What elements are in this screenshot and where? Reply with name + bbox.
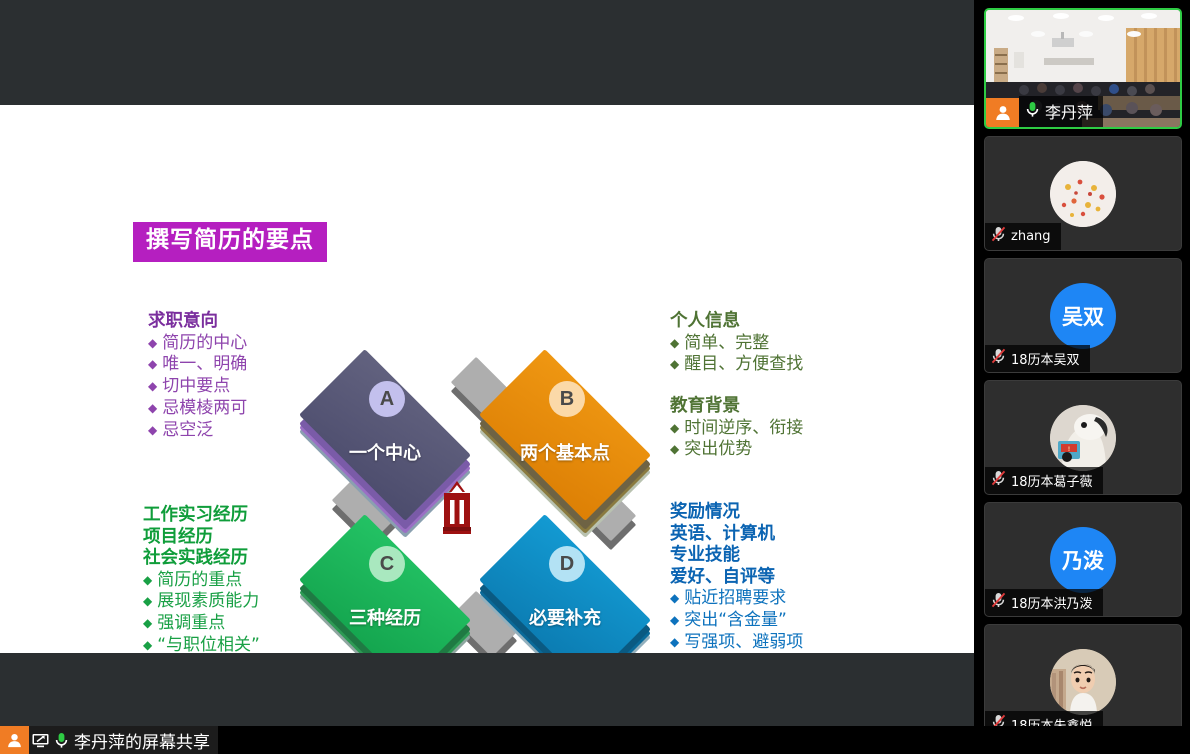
bullet-item: ◆ 时间逆序、衔接 [670,418,803,440]
diamond-bullet-icon: ◆ [143,594,152,609]
bullet-text: 时间逆序、衔接 [684,418,803,440]
bullet-item: ◆ “与职位相关” [143,635,260,653]
bullet-text: 贴近招聘要求 [684,588,786,610]
avatar [1050,649,1116,715]
bullet-text: 切中要点 [162,376,230,398]
diamond-bullet-icon: ◆ [143,638,152,653]
diamond-bullet-icon: ◆ [143,616,152,631]
section-job-intent: 求职意向 ◆ 简历的中心 ◆ 唯一、明确 ◆ 切中要点 ◆ 忌模棱两可 [148,311,247,442]
zoom-meeting-window: 撰写简历的要点 求职意向 ◆ 简历的中心 ◆ 唯一、明确 ◆ 切中要点 ◆ [0,0,1190,754]
participant-name: zhang [1011,229,1051,244]
section-personal-info: 个人信息 ◆ 简单、完整 ◆ 醒目、方便查找 [670,311,803,376]
participant-name: 李丹萍 [1045,99,1093,123]
bullet-item: ◆ 忌空泛 [148,420,247,442]
participant-name: 18历本吴双 [1011,349,1080,368]
screen-share-icon [29,732,52,749]
block-letter-badge: D [549,546,585,582]
block-letter-badge: C [369,546,405,582]
participant-tile-hongnaipo[interactable]: 乃泼 18历本洪乃泼 [984,502,1182,617]
pencil-icon [438,480,476,536]
microphone-on-icon [52,732,71,749]
bullet-text: 强调重点 [157,613,225,635]
avatar-initials: 吴双 [1062,301,1104,331]
participant-name-bar: 18历本吴双 [985,345,1090,372]
bullet-item: ◆ 强调重点 [143,613,260,635]
section-header: 社会实践经历 [143,548,260,570]
bullet-text: 展现素质能力 [157,591,259,613]
bullet-text: 忌空泛 [162,420,213,442]
diamond-bullet-icon: ◆ [148,423,157,438]
participant-tile-lidanping[interactable]: 李丹萍 [984,8,1182,129]
section-header: 奖励情况 [670,502,803,524]
microphone-muted-icon [991,226,1006,246]
screen-share-label: 李丹萍的屏幕共享 [71,728,218,753]
bullet-item: ◆ 忌模棱两可 [148,398,247,420]
bullet-text: 简历的重点 [157,570,242,592]
participant-tile-zhang[interactable]: zhang [984,136,1182,251]
diamond-bullet-icon: ◆ [148,401,157,416]
person-icon [986,98,1019,127]
section-header: 工作实习经历 [143,505,260,527]
section-education: 教育背景 ◆ 时间逆序、衔接 ◆ 突出优势 [670,396,803,461]
bullet-item: ◆ 写强项、避弱项 [670,632,803,653]
bullet-text: 简单、完整 [684,333,769,355]
section-work-experience: 工作实习经历 项目经历 社会实践经历 ◆ 简历的重点 ◆ 展现素质能力 ◆ 强调… [143,505,260,653]
block-letter-badge: A [369,381,405,417]
participant-name-bar: zhang [985,223,1061,250]
bullet-item: ◆ 简历的重点 [143,570,260,592]
taskbar: 李丹萍的屏幕共享 [0,726,1190,754]
person-icon [0,726,29,754]
avatar: ! [1050,405,1116,471]
bullet-item: ◆ 展现素质能力 [143,591,260,613]
svg-text:!: ! [1068,447,1070,453]
participant-name: 18历本洪乃泼 [1011,593,1093,612]
bullet-text: 唯一、明确 [162,354,247,376]
section-header: 个人信息 [670,311,803,333]
bullet-item: ◆ 切中要点 [148,376,247,398]
presentation-slide: 撰写简历的要点 求职意向 ◆ 简历的中心 ◆ 唯一、明确 ◆ 切中要点 ◆ [0,105,974,653]
bullet-item: ◆ 贴近招聘要求 [670,588,803,610]
bullet-text: 写强项、避弱项 [684,632,803,653]
bullet-text: 突出优势 [684,439,752,461]
participant-tile-wushuang[interactable]: 吴双 18历本吴双 [984,258,1182,373]
diamond-bullet-icon: ◆ [148,336,157,351]
participant-tile-gezhiwei[interactable]: ! 18历本葛子薇 [984,380,1182,495]
bullet-text: 忌模棱两可 [162,398,247,420]
participant-name-bar: 李丹萍 [1019,96,1103,127]
bullet-item: ◆ 简单、完整 [670,333,803,355]
bullet-text: “与职位相关” [157,635,260,653]
microphone-on-icon [1025,101,1040,122]
diamond-bullet-icon: ◆ [148,379,157,394]
participant-name-bar: 18历本葛子薇 [985,467,1103,494]
section-awards: 奖励情况 英语、计算机 专业技能 爱好、自评等 ◆ 贴近招聘要求 ◆ 突出“含金… [670,502,803,653]
avatar [1050,161,1116,227]
bullet-item: ◆ 简历的中心 [148,333,247,355]
diamond-bullet-icon: ◆ [143,573,152,588]
microphone-muted-icon [991,348,1006,368]
bullet-item: ◆ 唯一、明确 [148,354,247,376]
diagram-block-d[interactable]: D 必要补充 [465,500,665,653]
section-header: 专业技能 [670,545,803,567]
section-header: 求职意向 [148,311,247,333]
share-top-letterbox [0,0,974,105]
bullet-item: ◆ 突出“含金量” [670,610,803,632]
participant-panel[interactable]: 李丹萍 [974,0,1190,754]
section-header: 爱好、自评等 [670,567,803,589]
bullet-text: 醒目、方便查找 [684,354,803,376]
section-header: 教育背景 [670,396,803,418]
shared-screen-area: 撰写简历的要点 求职意向 ◆ 简历的中心 ◆ 唯一、明确 ◆ 切中要点 ◆ [0,0,974,754]
participant-tile-zhuxinyue[interactable]: 18历本朱鑫悦 [984,624,1182,739]
bullet-text: 突出“含金量” [684,610,787,632]
avatar: 乃泼 [1050,527,1116,593]
bullet-item: ◆ 突出优势 [670,439,803,461]
microphone-muted-icon [991,592,1006,612]
microphone-muted-icon [991,470,1006,490]
isometric-diagram: A 一个中心 B 两个基本点 C [270,335,680,653]
bullet-text: 简历的中心 [162,333,247,355]
section-header: 英语、计算机 [670,524,803,546]
slide-title: 撰写简历的要点 [133,222,327,262]
bullet-item: ◆ 醒目、方便查找 [670,354,803,376]
participant-name: 18历本葛子薇 [1011,471,1093,490]
avatar: 吴双 [1050,283,1116,349]
avatar-initials: 乃泼 [1062,545,1104,575]
screen-share-taskbar-item[interactable]: 李丹萍的屏幕共享 [0,726,218,754]
block-letter-badge: B [549,381,585,417]
participant-name-bar: 18历本洪乃泼 [985,589,1103,616]
diamond-bullet-icon: ◆ [148,357,157,372]
section-header: 项目经历 [143,527,260,549]
